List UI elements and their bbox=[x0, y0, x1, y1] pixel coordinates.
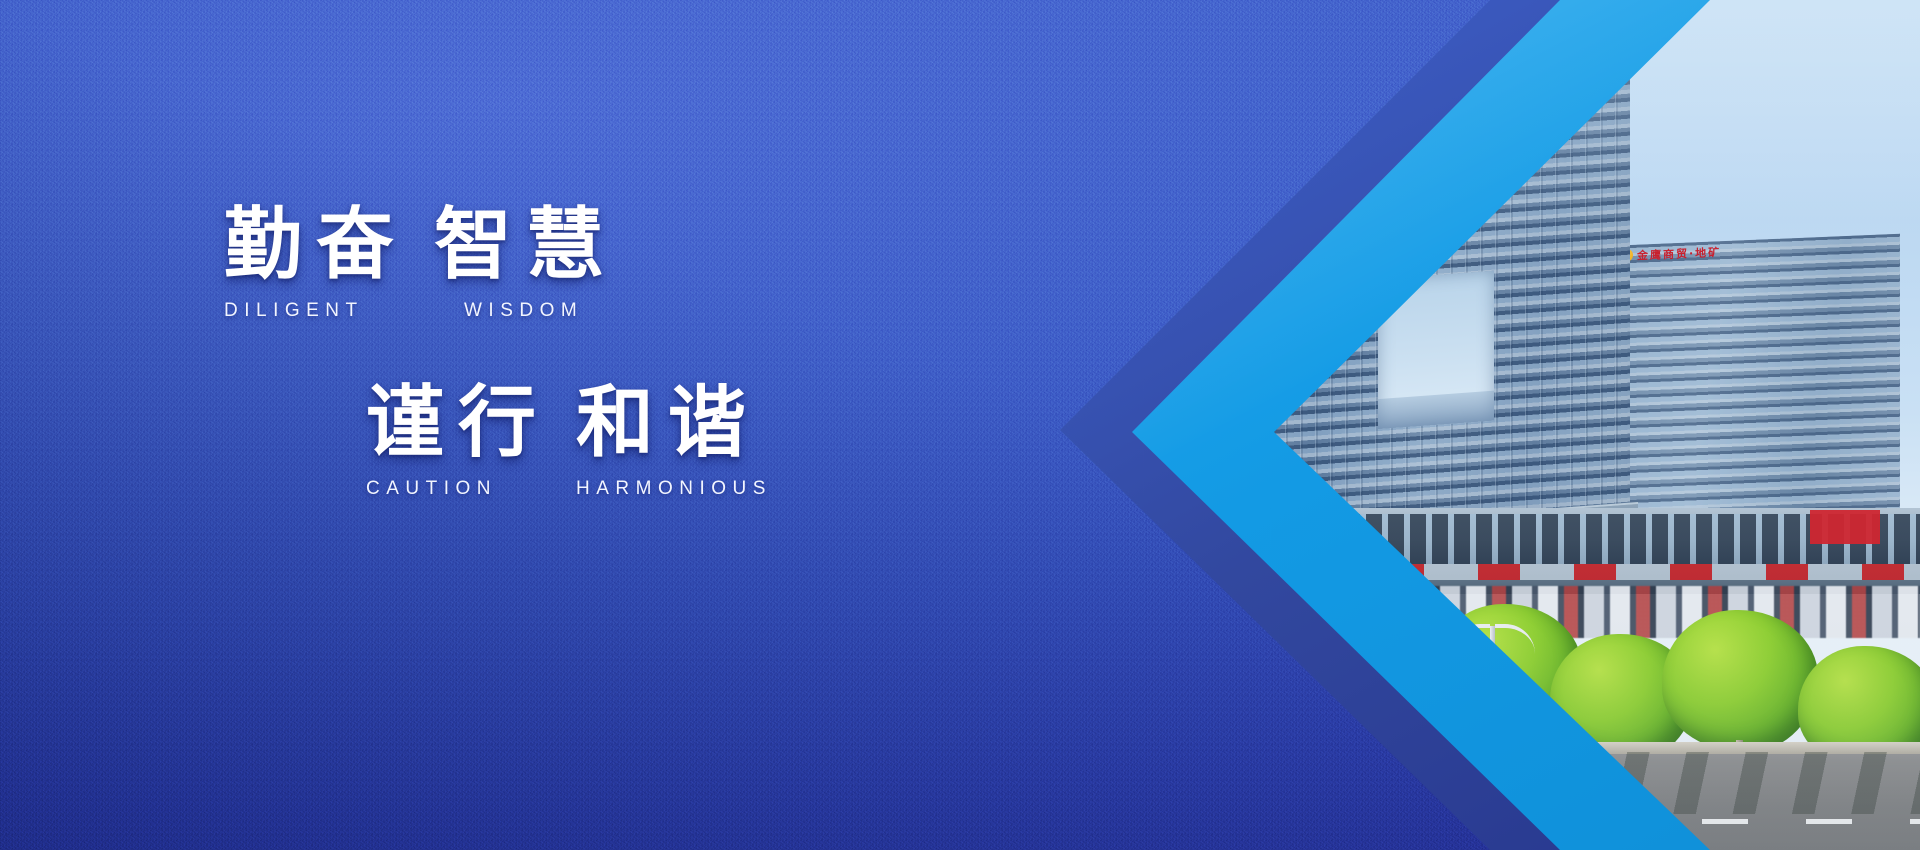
slogan-en-wisdom: WISDOM bbox=[464, 300, 583, 322]
slogan-block: 勤奋智慧 DILIGENTWISDOM 谨行和谐 CAUTIONHARMONIO… bbox=[0, 0, 1000, 850]
rooftop-company-sign: 江苏国泰 bbox=[1288, 0, 1400, 30]
slogan-cn-wisdom: 智慧 bbox=[434, 200, 618, 288]
slogan-cn-caution: 谨行 bbox=[366, 378, 550, 466]
corporate-slogan-banner: 金鹰商贸·地矿 江苏国泰 bbox=[0, 0, 1920, 850]
slogan-en-caution: CAUTION bbox=[366, 478, 576, 500]
slogan-cn-harmonious: 和谐 bbox=[576, 378, 760, 466]
slogan-line-1-english: DILIGENTWISDOM bbox=[224, 300, 618, 322]
slogan-line-1-chinese: 勤奋智慧 bbox=[224, 196, 618, 292]
slogan-en-harmonious: HARMONIOUS bbox=[576, 478, 772, 500]
slogan-en-diligent: DILIGENT bbox=[224, 300, 464, 322]
tree-trunk bbox=[1284, 732, 1291, 774]
slogan-line-2: 谨行和谐 CAUTIONHARMONIOUS bbox=[366, 374, 772, 500]
banner-artwork: 金鹰商贸·地矿 江苏国泰 bbox=[1060, 0, 1920, 850]
slogan-line-2-chinese: 谨行和谐 bbox=[366, 374, 772, 470]
slogan-line-1: 勤奋智慧 DILIGENTWISDOM bbox=[224, 196, 618, 322]
slogan-line-2-english: CAUTIONHARMONIOUS bbox=[366, 478, 772, 500]
tree-trunk bbox=[1384, 748, 1391, 788]
slogan-cn-diligent: 勤奋 bbox=[224, 200, 408, 288]
